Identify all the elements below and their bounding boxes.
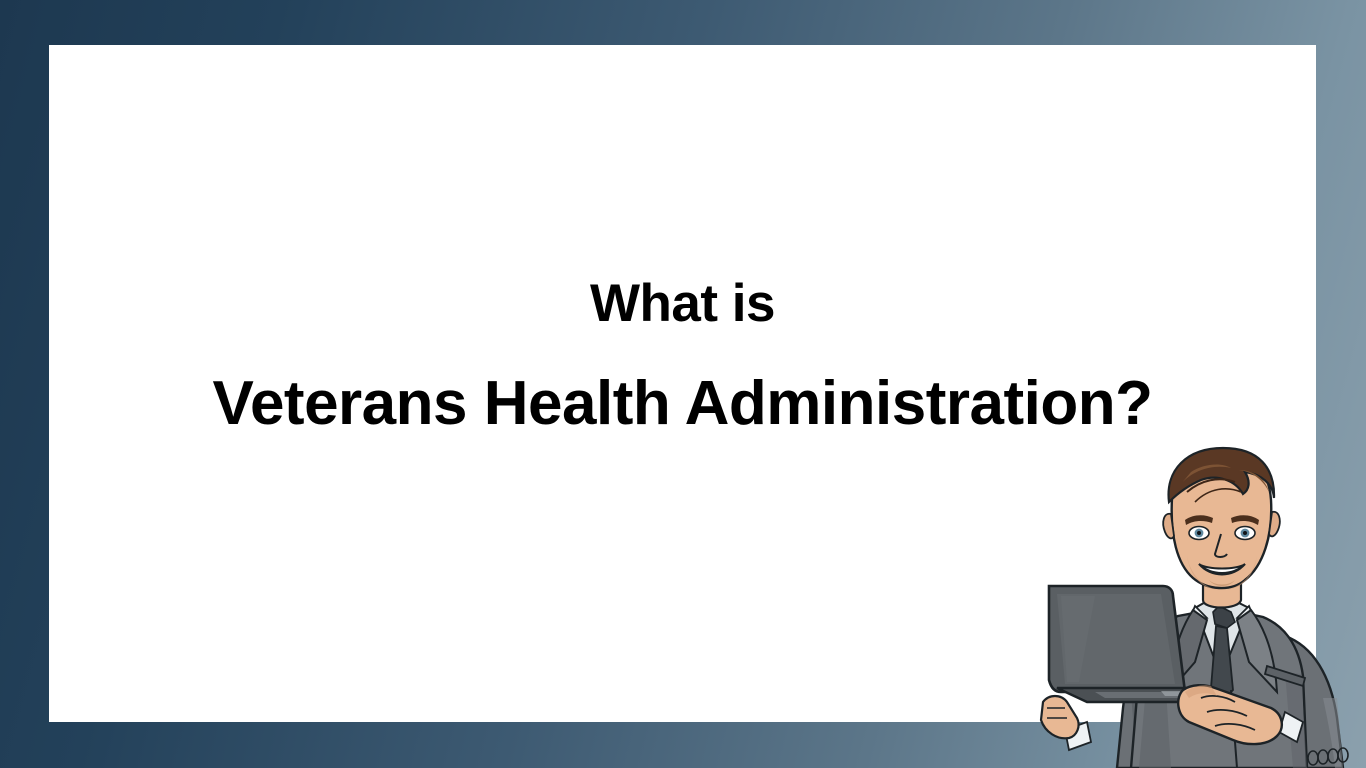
presentation-slide: What is Veterans Health Administration? <box>0 0 1366 768</box>
slide-title-block: What is Veterans Health Administration? <box>49 277 1316 435</box>
title-line-1: What is <box>49 277 1316 330</box>
title-line-2: Veterans Health Administration? <box>49 373 1316 435</box>
slide-content-panel: What is Veterans Health Administration? <box>49 45 1316 722</box>
